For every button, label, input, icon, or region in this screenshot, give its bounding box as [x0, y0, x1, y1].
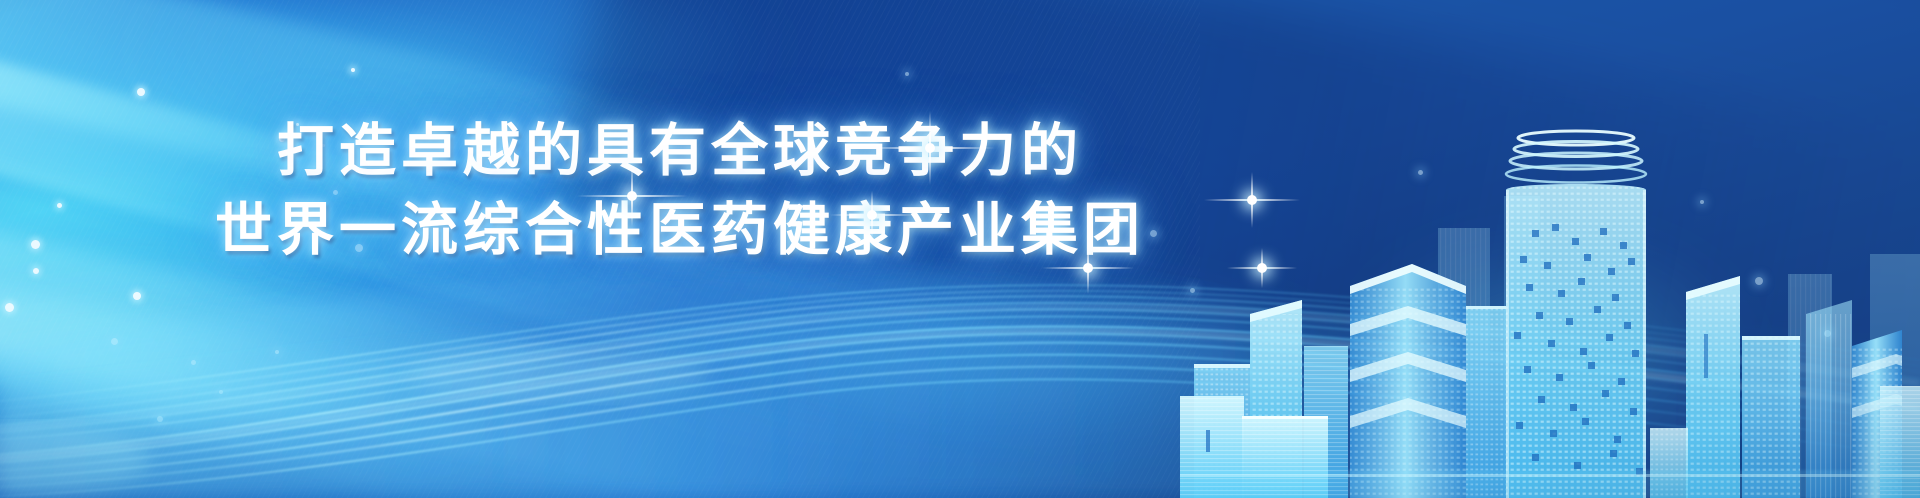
building-stepped-tower [1350, 264, 1466, 498]
headline-line-2: 世界一流综合性医药健康产业集团 [0, 197, 1360, 264]
building-slim-tower [1466, 306, 1506, 498]
building-right-faceted [1686, 276, 1740, 498]
headline-line-1: 打造卓越的具有全球竞争力的 [0, 118, 1360, 185]
building-far-right-a [1806, 300, 1852, 498]
city-ground-line [1180, 474, 1920, 477]
headline-block: 打造卓越的具有全球竞争力的 世界一流综合性医药健康产业集团 [0, 118, 1360, 263]
hero-banner: 打造卓越的具有全球竞争力的 世界一流综合性医药健康产业集团 [0, 0, 1920, 498]
tower-crown-rings [1506, 131, 1646, 183]
building-cylinder-tower [1506, 131, 1646, 498]
